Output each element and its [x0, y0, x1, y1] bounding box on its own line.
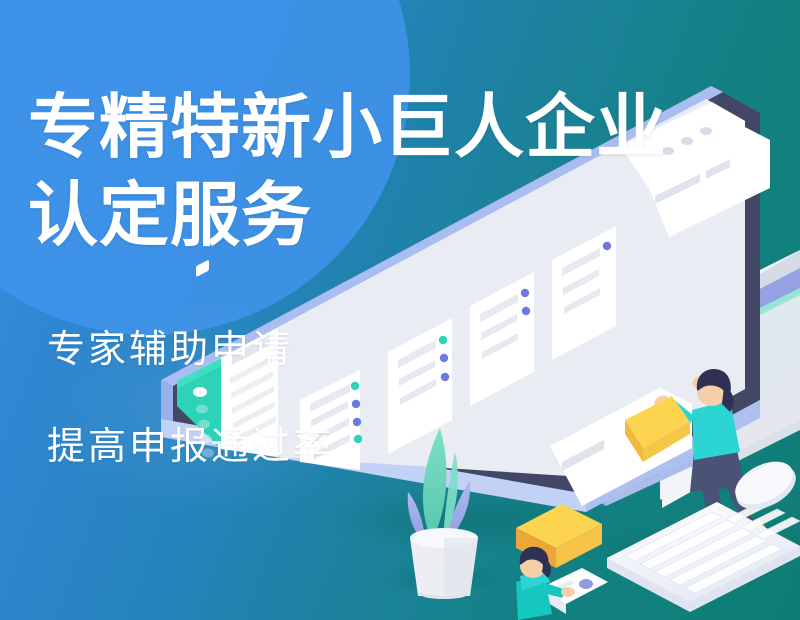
- sidebar-nav-active-icon: [193, 387, 207, 397]
- status-dot-teal: [351, 382, 359, 390]
- status-dot-blue: [522, 307, 530, 315]
- status-dot-blue: [521, 289, 529, 297]
- status-dot-blue: [440, 354, 448, 362]
- status-dot-blue: [353, 418, 361, 426]
- banner-subtitle-line-1: 专家辅助申请: [47, 318, 293, 373]
- status-dot-teal: [439, 336, 447, 344]
- tablet-dot: [579, 579, 593, 589]
- banner-title-line-2: 认定服务: [28, 174, 312, 256]
- status-dot-teal: [354, 435, 362, 443]
- banner-subtitle-line-2: 提高申报通过率: [47, 415, 334, 470]
- status-dot-blue: [352, 400, 360, 408]
- keyboard: [607, 501, 800, 612]
- banner-title-line-1: 专精特新小巨人企业: [28, 86, 667, 168]
- sidebar-nav-icon: [196, 405, 208, 414]
- status-dot-blue: [603, 242, 611, 250]
- promo-banner: 专精特新小巨人企业 认定服务 专家辅助申请 提高申报通过率: [0, 0, 800, 620]
- status-dot-blue: [441, 373, 449, 381]
- sidebar-logo-icon: [196, 260, 209, 278]
